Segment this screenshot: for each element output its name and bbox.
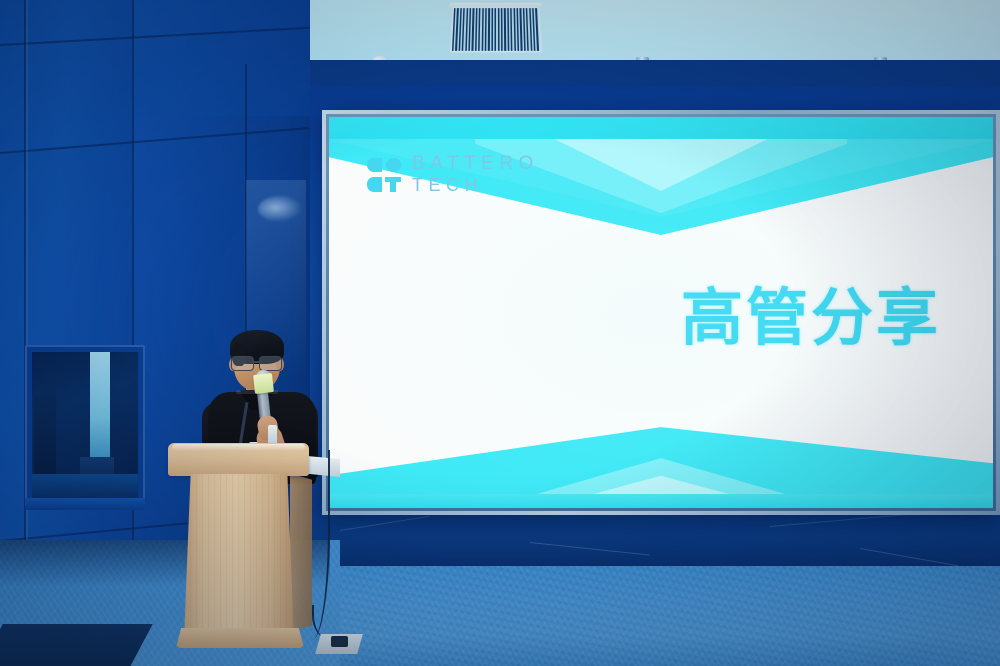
doorway-alcove	[32, 352, 138, 498]
alcove-sill	[25, 498, 145, 510]
microphone-flag	[253, 373, 274, 394]
battero-logo-mark-icon	[367, 158, 401, 192]
alcove-light-panel	[90, 352, 110, 462]
slide-bottom-band	[329, 494, 993, 508]
surface-scratch	[860, 548, 959, 566]
conference-room-photo: BATTERO TECH 高管分享	[0, 0, 1000, 666]
podium-wood-grain	[184, 474, 294, 639]
air-vent-icon	[451, 7, 541, 52]
surface-scratch	[770, 513, 920, 527]
slide-canvas: BATTERO TECH 高管分享	[329, 117, 993, 508]
floor-device	[331, 636, 348, 647]
podium-base	[176, 628, 304, 648]
floor-mat	[0, 624, 153, 666]
logo-line-1: BATTERO	[412, 153, 539, 175]
logo-line-2: TECH	[412, 175, 539, 196]
presentation-screen-frame: BATTERO TECH 高管分享	[322, 110, 1000, 515]
presentation-screen[interactable]: BATTERO TECH 高管分享	[329, 117, 993, 508]
surface-scratch	[340, 516, 429, 531]
alcove-floor	[32, 474, 138, 498]
podium-body	[184, 474, 294, 639]
glasses-icon	[231, 356, 283, 369]
battero-logo-text: BATTERO TECH	[412, 153, 539, 197]
stage-base	[300, 512, 1000, 572]
battero-logo: BATTERO TECH	[367, 153, 539, 197]
slide-top-band	[329, 117, 993, 139]
podium-top-surface	[168, 443, 309, 476]
slide-headline: 高管分享	[681, 267, 941, 357]
wall-reflection-highlight	[258, 196, 302, 222]
surface-scratch	[530, 542, 649, 556]
